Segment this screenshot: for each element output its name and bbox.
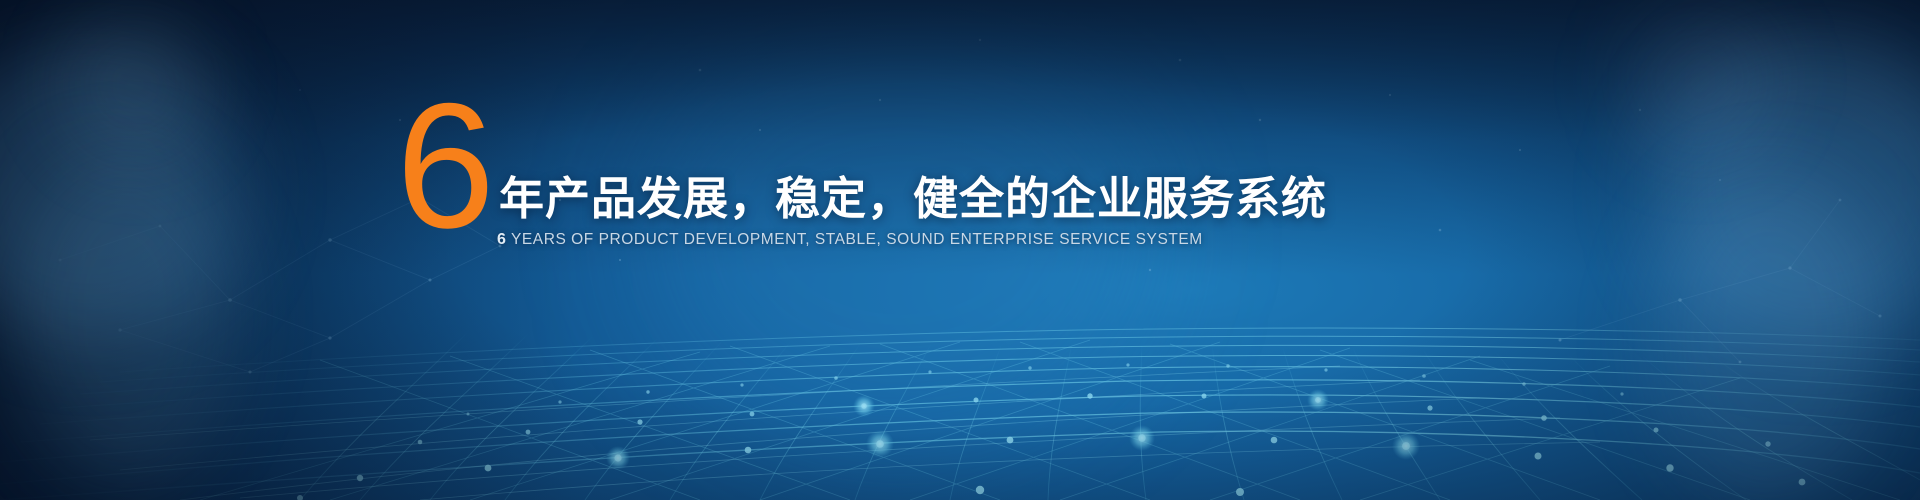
years-number: 6 — [396, 88, 493, 245]
hero-banner: 6 年产品发展，稳定，健全的企业服务系统 6 YEARS OF PRODUCT … — [0, 0, 1920, 500]
subtitle-text: 6 YEARS OF PRODUCT DEVELOPMENT, STABLE, … — [497, 231, 1203, 249]
subtitle-rest: YEARS OF PRODUCT DEVELOPMENT, STABLE, SO… — [506, 231, 1202, 248]
headline-row: 6 年产品发展，稳定，健全的企业服务系统 — [396, 86, 1327, 243]
vignette-overlay — [0, 0, 1920, 500]
